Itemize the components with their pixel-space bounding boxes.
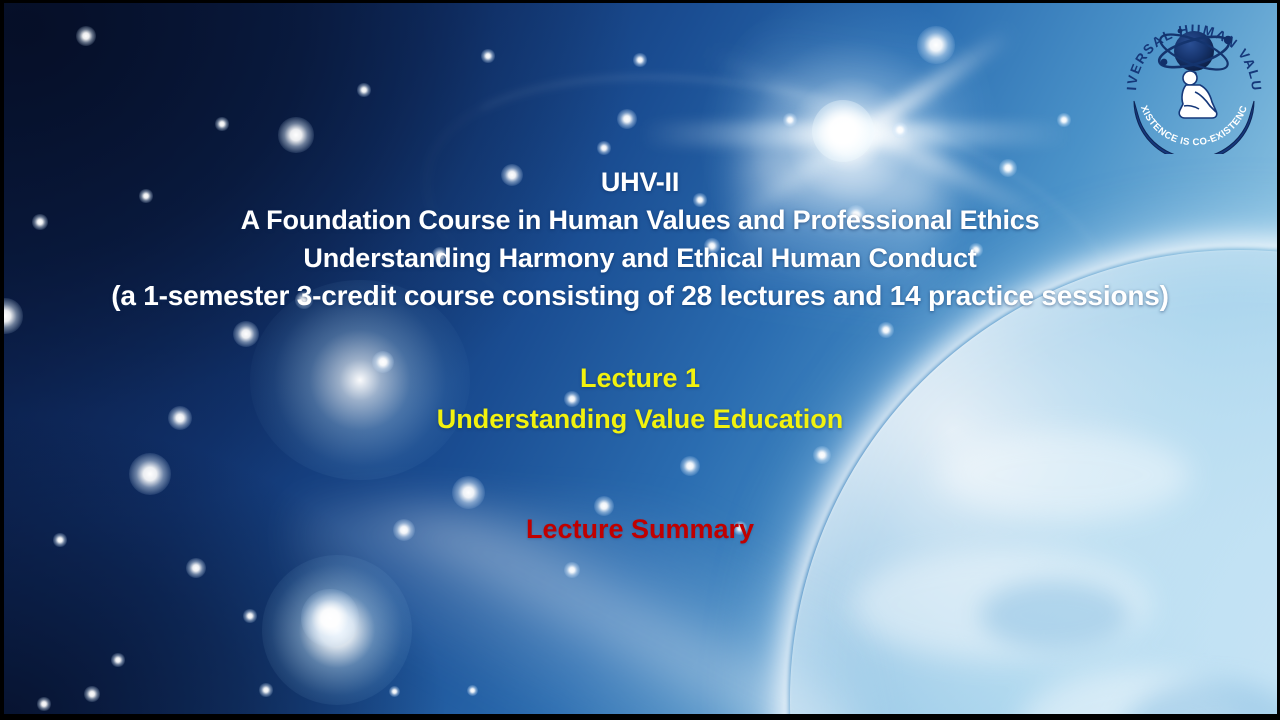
seated-person-icon	[1179, 71, 1217, 118]
slide-text-layer: UHV-II A Foundation Course in Human Valu…	[0, 0, 1280, 720]
course-subtitle-line: Understanding Harmony and Ethical Human …	[0, 239, 1280, 277]
course-title-block: UHV-II A Foundation Course in Human Valu…	[0, 163, 1280, 315]
lecture-summary-label: Lecture Summary	[0, 510, 1280, 548]
lecture-heading-block: Lecture 1 Understanding Value Education	[0, 358, 1280, 440]
universal-human-values-logo: UNIVERSAL HUMAN VALUES	[1120, 6, 1268, 154]
course-name-line: A Foundation Course in Human Values and …	[0, 201, 1280, 239]
top-letterbox-edge	[0, 0, 1280, 3]
presentation-slide: UHV-II A Foundation Course in Human Valu…	[0, 0, 1280, 720]
course-structure-line: (a 1-semester 3-credit course consisting…	[0, 277, 1280, 315]
summary-heading-block: Lecture Summary	[0, 510, 1280, 548]
left-letterbox-edge	[0, 0, 4, 720]
lecture-number: Lecture 1	[0, 358, 1280, 399]
lecture-topic: Understanding Value Education	[0, 399, 1280, 440]
course-code-line: UHV-II	[0, 163, 1280, 201]
bottom-letterbox-edge	[0, 714, 1280, 720]
